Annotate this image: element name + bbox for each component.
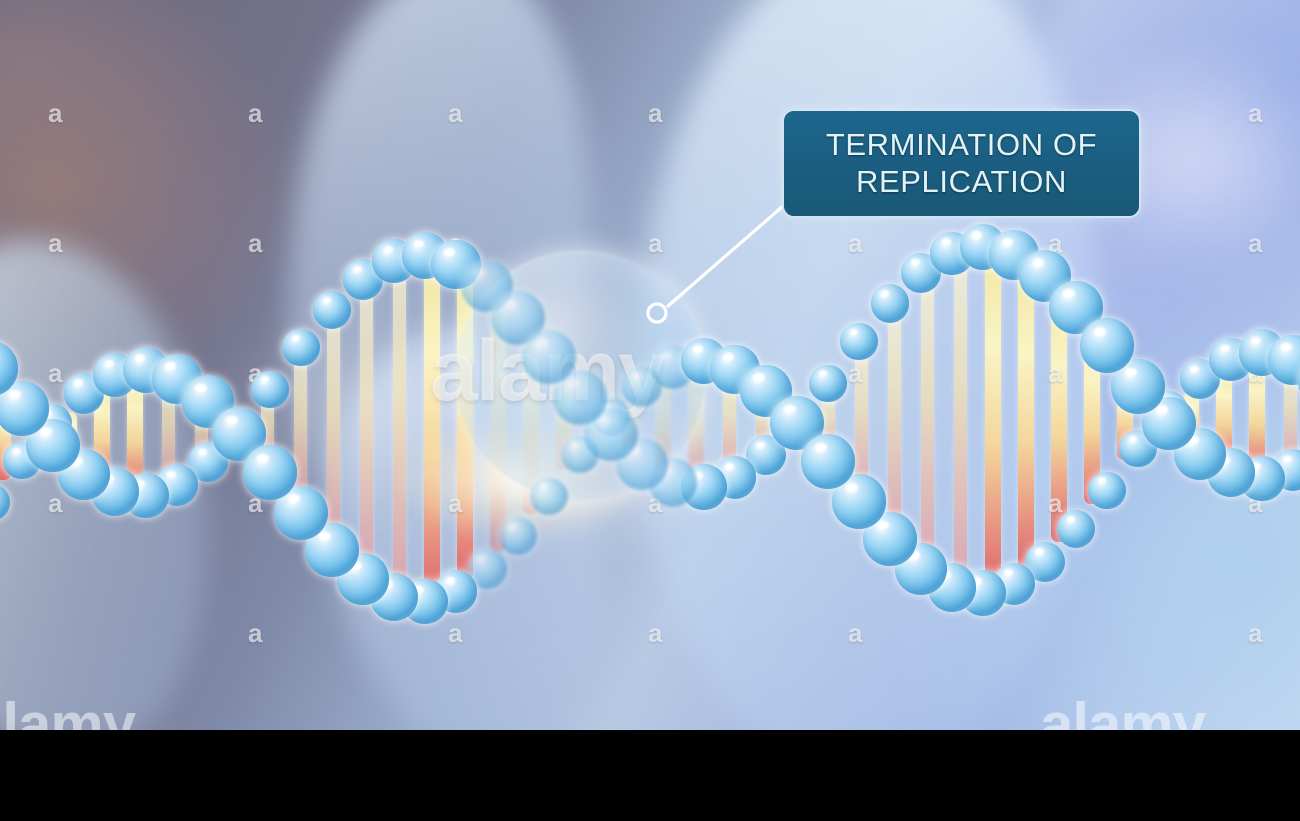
dna-base-pair <box>1051 295 1067 542</box>
dna-base-pair <box>985 254 1001 585</box>
dna-backbone-bead-bottom <box>243 445 298 500</box>
dna-base-pair <box>888 305 901 537</box>
dna-backbone-bead-bottom <box>499 517 537 555</box>
dna-backbone-bead-bottom <box>1268 335 1300 384</box>
dna-backbone-bead-top <box>871 284 909 322</box>
callout-label-text: TERMINATION OF REPLICATION <box>826 127 1097 200</box>
dna-base-pair <box>954 256 967 584</box>
dna-backbone-bead-bottom <box>530 478 567 515</box>
dna-base-pair <box>360 283 373 575</box>
dna-base-pair <box>921 274 934 567</box>
callout-label-box: TERMINATION OF REPLICATION <box>782 109 1141 218</box>
dna-backbone-bead-top <box>313 291 351 329</box>
dna-base-pair <box>1018 268 1034 571</box>
screenshot-root: aaaaaaaaaaaaaaaaaaaaaaaaaaaaaaaa alamy a… <box>0 0 1300 821</box>
dna-base-pair <box>424 262 440 594</box>
dna-base-pair <box>327 315 340 545</box>
dna-backbone-bead-bottom <box>1057 510 1095 548</box>
dna-backbone-bead-top <box>282 329 319 366</box>
dna-backbone-bead-top <box>809 365 846 402</box>
dna-base-pair <box>393 265 406 592</box>
dna-base-pair <box>294 355 307 506</box>
dna-backbone-bead-top <box>840 323 877 360</box>
dna-backbone-bead-bottom <box>801 434 856 489</box>
dna-backbone-bead-top <box>251 371 288 408</box>
dna-backbone-bead-bottom <box>0 484 10 521</box>
stock-photo-image: aaaaaaaaaaaaaaaaaaaaaaaaaaaaaaaa alamy a… <box>0 0 1300 730</box>
alamy-footer-bar: alamy Image ID: 2JMJYWR www.alamy.com <box>0 730 1300 821</box>
dna-backbone-bead-bottom <box>1088 472 1125 509</box>
